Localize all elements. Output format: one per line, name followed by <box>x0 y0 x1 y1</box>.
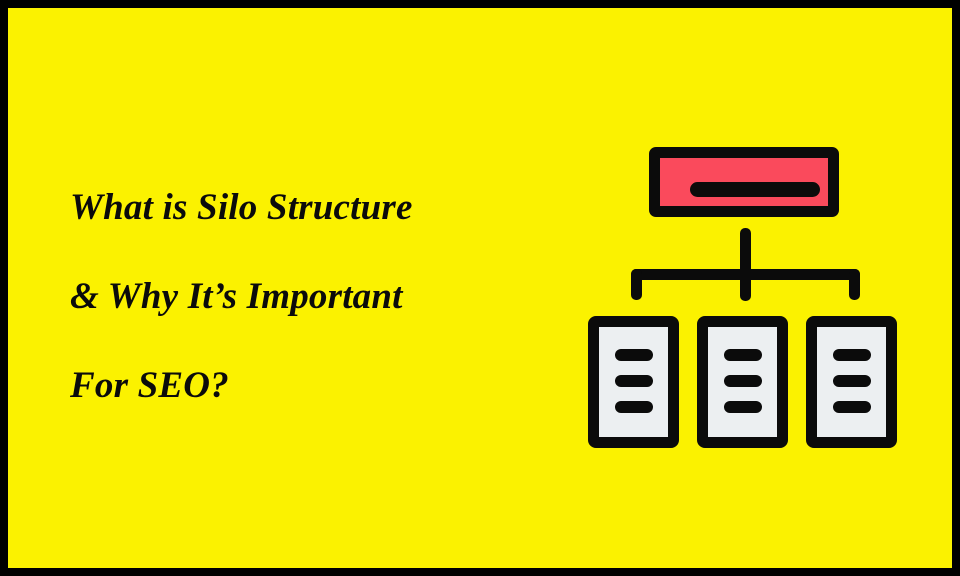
diagram-child-card-1-icon <box>588 316 679 448</box>
card-line-icon <box>615 349 653 361</box>
card-line-icon <box>724 401 762 413</box>
parent-node-bar-icon <box>690 182 820 197</box>
banner: What is Silo Structure & Why It’s Import… <box>0 0 960 576</box>
diagram-child-card-3-icon <box>806 316 897 448</box>
card-line-icon <box>833 375 871 387</box>
card-line-icon <box>724 375 762 387</box>
card-line-icon <box>833 401 871 413</box>
card-line-icon <box>724 349 762 361</box>
headline-line-1: What is Silo Structure <box>70 163 560 252</box>
headline-line-2: & Why It’s Important <box>70 252 560 341</box>
card-line-icon <box>615 375 653 387</box>
connector-horizontal-bar-icon <box>631 269 860 280</box>
connector-vertical-trunk-icon <box>740 228 751 301</box>
page-title: What is Silo Structure & Why It’s Import… <box>70 163 560 430</box>
card-line-icon <box>615 401 653 413</box>
card-line-icon <box>833 349 871 361</box>
diagram-parent-node-icon <box>649 147 839 217</box>
headline-line-3: For SEO? <box>70 341 560 430</box>
silo-structure-diagram <box>578 128 918 468</box>
diagram-child-card-2-icon <box>697 316 788 448</box>
connector-stub-right-icon <box>849 269 860 300</box>
banner-canvas: What is Silo Structure & Why It’s Import… <box>8 8 952 568</box>
connector-stub-left-icon <box>631 269 642 300</box>
